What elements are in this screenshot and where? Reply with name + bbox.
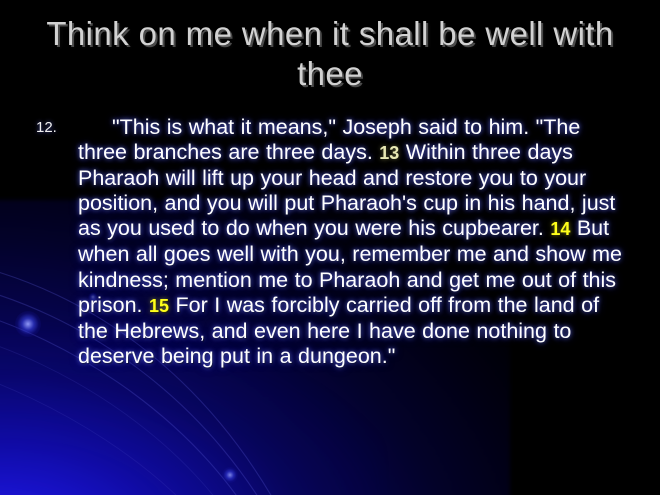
slide-title: Think on me when it shall be well with t… [28,14,632,95]
verse-number-13: 13 [379,143,399,163]
slide-title-text: Think on me when it shall be well with t… [28,14,632,95]
slide-body: 12. "This is what it means," Joseph said… [36,115,632,369]
verse-number-14: 14 [550,219,570,239]
verse-number-15: 15 [149,296,169,316]
list-marker: 12. [36,120,57,135]
scripture-paragraph: 12. "This is what it means," Joseph said… [36,115,632,369]
glow-dot-icon [222,467,238,483]
presentation-slide: Think on me when it shall be well with t… [0,0,660,495]
